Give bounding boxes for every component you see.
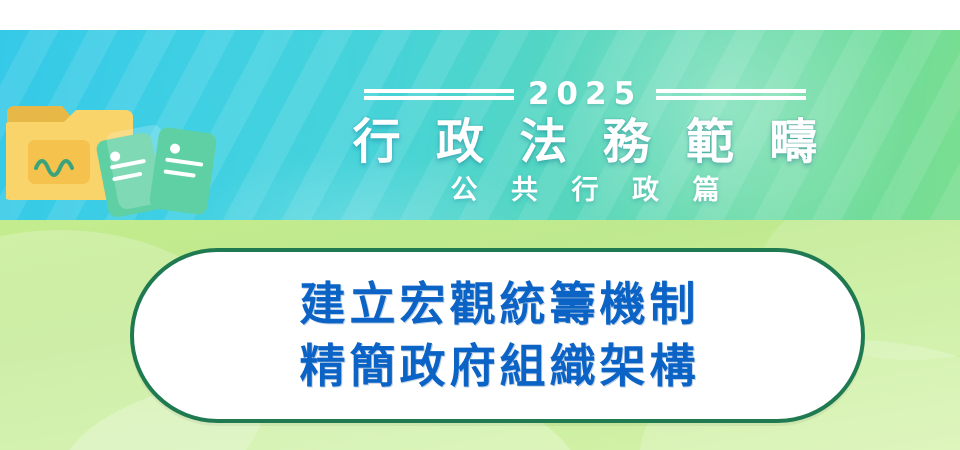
banner-heading-block: 2025 行 政 法 務 範 疇 公 共 行 政 篇 — [235, 74, 935, 206]
year-row: 2025 — [235, 74, 935, 114]
headline-line-1: 建立宏觀統籌機制 — [296, 274, 700, 335]
year-label: 2025 — [528, 79, 642, 110]
banner-subtitle: 公 共 行 政 篇 — [235, 174, 935, 206]
banner: 2025 行 政 法 務 範 疇 公 共 行 政 篇 — [0, 30, 960, 220]
documents-icon — [95, 123, 217, 218]
poster-root: 2025 行 政 法 務 範 疇 公 共 行 政 篇 建立宏觀統籌機制 精簡政府… — [0, 0, 960, 450]
headline-line-2: 精簡政府組織架構 — [296, 336, 700, 397]
year-rule-left — [364, 89, 514, 100]
banner-title: 行 政 法 務 範 疇 — [235, 116, 935, 170]
folder-documents-illustration — [6, 78, 236, 220]
year-rule-right — [656, 89, 806, 100]
headline-card: 建立宏觀統籌機制 精簡政府組織架構 — [130, 248, 865, 423]
